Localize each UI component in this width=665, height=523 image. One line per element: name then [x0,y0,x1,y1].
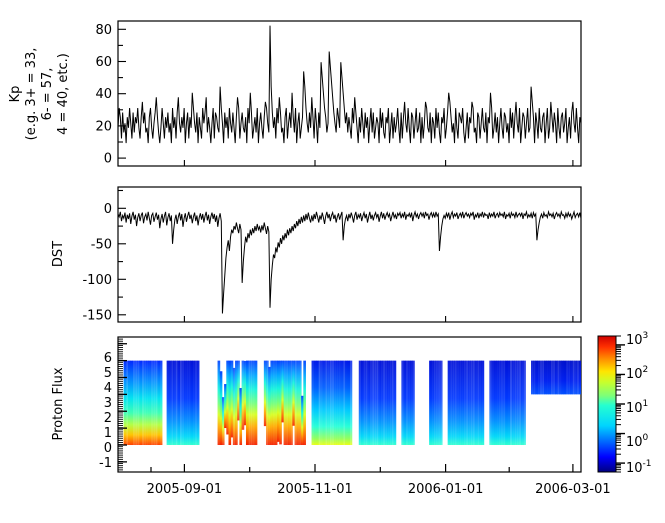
kp-ytick-60: 60 [95,55,112,70]
flux-column [350,361,353,445]
xtick-2006-01-01: 2006-01-01 [408,482,484,497]
dst-axis-label: DST [51,241,66,267]
dst-ytick-m50: -50 [91,237,112,252]
kp-ytick-0: 0 [104,152,112,167]
kp-ytick-80: 80 [95,23,112,38]
xtick-2005-09-01: 2005-09-01 [147,482,223,497]
flux-ytick-0: 0 [104,441,112,456]
kp-ytick-20: 20 [95,119,112,134]
flux-ytick-5: 5 [104,366,112,381]
flux-ytick-3: 3 [104,396,112,411]
flux-column [197,361,200,445]
dst-ytick-m100: -100 [82,273,112,288]
flux-ytick-4: 4 [104,381,112,396]
flux-axis-label: Proton Flux [51,367,66,440]
flux-column [412,361,415,445]
kp-plot-frame [118,21,581,166]
xtick-2006-03-01: 2006-03-01 [535,482,611,497]
flux-ytick-m1: -1 [99,456,112,471]
flux-column [523,361,526,445]
flux-column [482,361,485,445]
flux-ytick-6: 6 [104,351,112,366]
colorbar-gradient [598,336,616,472]
kp-axis-label-line1: Kp [8,86,23,103]
flux-column [440,361,443,445]
panel-dst: 0 -50 -100 -150 DST [51,187,581,323]
figure-canvas: 0 20 40 60 80 Kp (e.g. 3+ = 33, 6- = 57,… [0,0,665,523]
flux-column [160,361,163,445]
flux-column [394,361,397,445]
dst-ytick-m150: -150 [82,308,112,323]
xtick-2005-11-01: 2005-11-01 [277,482,353,497]
flux-column [255,361,258,445]
flux-ytick-2: 2 [104,411,112,426]
kp-axis-label-line2: (e.g. 3+ = 33, [24,48,39,141]
kp-ytick-40: 40 [95,87,112,102]
dst-axis-label-text: DST [51,241,66,267]
kp-axis-label-line3: 6- = 57, [40,68,55,121]
flux-ytick-1: 1 [104,426,112,441]
flux-axis-label-text: Proton Flux [51,367,66,440]
dst-plot-frame [118,187,581,322]
dst-ytick-0: 0 [104,202,112,217]
figure-root: 0 20 40 60 80 Kp (e.g. 3+ = 33, 6- = 57,… [0,0,665,523]
kp-axis-label-line4: 4 = 40, etc.) [56,53,71,135]
flux-column [303,361,306,445]
